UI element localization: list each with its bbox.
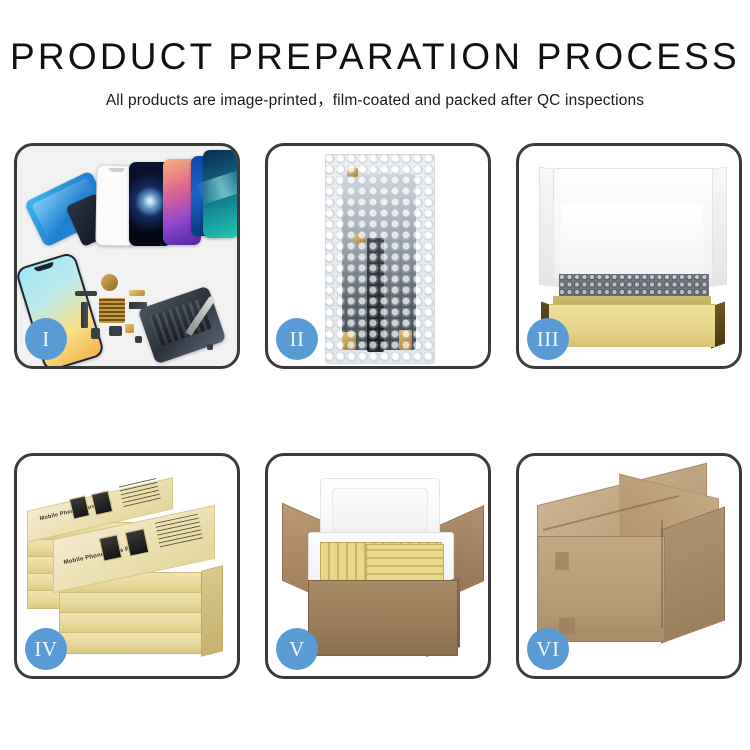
gold-tab-middle-icon [354,234,366,244]
carton-tape-lower-icon [559,618,575,634]
process-step-panel-1[interactable]: I [14,143,240,369]
phone-display-teal-icon [203,150,237,238]
flex-connector-part-icon [75,291,97,296]
sim-tray-part-icon [91,328,100,339]
camera-flex-part-icon [129,302,147,309]
process-step-panel-6[interactable]: VI [516,453,742,679]
process-step-panel-5[interactable]: V [265,453,491,679]
page-title: PRODUCT PREPARATION PROCESS [0,38,750,77]
box-tray-front-icon [549,304,715,347]
gold-tab-lower-right-icon [399,330,412,350]
process-step-panel-4[interactable]: Mobile Phone Spare Parts Mobile Phone Sp… [14,453,240,679]
carton-corner-edge-icon [661,520,663,628]
small-screw-part-icon [135,336,142,343]
step-badge-1: I [25,318,67,360]
process-step-panel-2[interactable]: II [265,143,491,369]
stacked-box-front-2 [59,612,213,634]
gold-tab-lower-left-icon [342,332,356,350]
page-subtitle: All products are image-printed，film-coat… [0,88,750,110]
screw-part-icon [207,344,213,350]
step-badge-3: III [527,318,569,360]
stacked-box-front-1 [59,632,213,654]
speaker-coil-part-icon [101,274,118,291]
step-badge-2: II [276,318,318,360]
screw-set-part-icon [125,324,134,333]
ribbon-cable-part-icon [81,302,88,328]
vibrator-part-icon [109,326,122,336]
carton-tape-upper-icon [555,552,569,570]
logic-board-part-icon [99,298,125,323]
sealed-carton-side-icon [661,506,725,643]
process-step-panel-3[interactable]: III [516,143,742,369]
step-badge-4: IV [25,628,67,670]
carton-body-icon [308,580,458,656]
step-badge-5: V [276,628,318,670]
process-steps-grid: I II III [14,143,740,679]
foam-insert-icon [561,204,703,276]
gold-bracket-part-icon [129,290,145,296]
page-header: PRODUCT PREPARATION PROCESS All products… [0,0,750,110]
step-badge-6: VI [527,628,569,670]
wrapped-flex-cable-icon [367,238,384,352]
gold-tab-top-icon [347,168,358,177]
stacked-box-front-3 [59,592,213,614]
stacked-box-right-side [201,565,223,656]
